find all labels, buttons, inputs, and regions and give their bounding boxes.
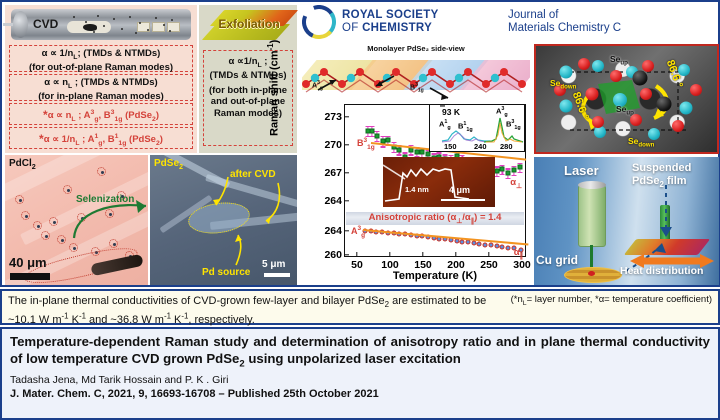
rsc-logo-line2: OF CHEMISTRY: [342, 22, 432, 34]
relation-box-in-plane: α ∝ nL ; (TMDs & NTMDs) (for in-plane Ra…: [9, 74, 193, 101]
inset-x-tick-280: 280: [500, 142, 513, 151]
pdse2-label: PdSe2: [154, 158, 183, 171]
error-bar-cap: [397, 154, 402, 155]
y-tick-260: 260: [324, 249, 342, 261]
rsc-logo-line1: ROYAL SOCIETY: [342, 9, 439, 21]
vapor-dots: [69, 13, 179, 35]
inset-x-tick-240: 240: [474, 142, 487, 151]
data-point: [506, 245, 511, 250]
inset-peak-a3g: A3g: [496, 106, 508, 118]
laser-heating-schematic: Laser SuspendedPdSe2 film Cu grid Heat d…: [534, 157, 719, 285]
data-point: [385, 138, 390, 143]
crystal-mode-label-b31g: B31g: [410, 82, 424, 94]
error-bar-cap: [517, 172, 522, 173]
laser-spot: [588, 271, 595, 276]
stm-label-se-up-top: Seup: [610, 54, 628, 67]
data-point: [420, 150, 425, 155]
pdcl2-scale-bar: [10, 273, 50, 280]
cvd-panel: CVD α ∝ 1/nL; (TMDs & NTMDs) (for out-of…: [5, 5, 197, 153]
inset-x-tick-150: 150: [444, 142, 457, 151]
optical-image-pdse2: PdSe2 after CVD Pd source 5 μm: [150, 155, 297, 285]
data-point: [494, 244, 499, 249]
error-bar-cap: [408, 154, 413, 155]
inset-peak-a1g: A1g: [439, 119, 451, 131]
stm-label-se-up-mid: Seup: [616, 104, 634, 117]
alpha-parallel-label: α∥: [514, 247, 523, 260]
crystal-lattice: [302, 54, 530, 102]
stm-label-se-down-left: Sedown: [550, 78, 576, 91]
error-bar-cap: [500, 165, 505, 166]
y-tick-264-upper: 264: [324, 195, 342, 207]
stm-image-panel: Seup Sedown Seup Sedown 86.6 ° 86.6 °: [534, 44, 719, 154]
cvd-furnace-tube-icon: CVD: [11, 9, 191, 40]
raman-spectrum-inset: Intensity 93 K A1g B11g A3g B31g 150 240…: [429, 104, 525, 152]
error-bar-cap: [380, 146, 385, 147]
chart-y-axis-label: Raman shift (cm-1): [266, 40, 281, 136]
crystal-structure-title: Monolayer PdSe₂ side-view: [302, 44, 530, 53]
error-bar-cap: [506, 168, 511, 169]
cvd-label: CVD: [33, 17, 58, 31]
alpha-perp-label: α⊥: [510, 177, 522, 190]
summary-text: The in-plane thermal conductivities of C…: [8, 295, 486, 326]
pd-source-label: Pd source: [202, 267, 250, 278]
series-label-b31g: B31g: [357, 137, 375, 151]
pdse2-scale-label: 5 μm: [262, 259, 285, 270]
error-bar-cap: [511, 175, 516, 176]
error-bar-cap: [437, 152, 442, 153]
y-tick-264-lower: 264: [324, 225, 342, 237]
fit-line-lower: [363, 229, 529, 245]
relation-box-pdse2-a3g: *α ∝ nL ; A3g, B31g (PdSe2): [9, 103, 193, 125]
error-bar-cap: [391, 142, 396, 143]
rsc-logo-icon: [302, 5, 336, 39]
raman-shift-vs-temperature-chart: Raman shift (cm-1) 273 270 267 264 264 2…: [302, 102, 530, 285]
heat-distribution-label: Heat distribution: [620, 265, 703, 277]
data-point: [466, 240, 471, 245]
error-bar-cap: [370, 126, 375, 127]
laser-top: [578, 181, 606, 189]
data-point: [397, 147, 402, 152]
error-bar-cap: [500, 174, 505, 175]
data-point: [471, 241, 476, 246]
error-bar-cap: [385, 136, 390, 137]
data-point: [511, 168, 516, 173]
cu-grid-label: Cu grid: [536, 253, 578, 267]
laser-label: Laser: [564, 163, 599, 178]
stm-label-se-down-bottom: Sedown: [628, 136, 654, 149]
chart-plot-area: 273 270 267 264 264 260 50 100 150: [344, 104, 526, 257]
paper-authors: Tadasha Jena, Md Tarik Hossain and P. K …: [10, 374, 710, 386]
series-label-a3g: A3g: [351, 225, 365, 239]
paper-citation: J. Mater. Chem. C, 2021, 9, 16693-16708 …: [10, 388, 710, 400]
paper-citation-box: Temperature-dependent Raman study and de…: [0, 327, 720, 420]
inset-peak-b31g: B31g: [506, 119, 521, 131]
exfoliation-label: Exfoliation: [209, 17, 289, 31]
data-point: [517, 165, 522, 170]
crystal-structure-schematic: Monolayer PdSe₂ side-view: [302, 44, 530, 104]
data-point: [506, 171, 511, 176]
data-point: [375, 133, 380, 138]
inset-peak-b11g: B11g: [458, 121, 473, 133]
laser-body: [578, 185, 606, 247]
pdcl2-label: PdCl2: [9, 158, 36, 171]
selenization-label: Selenization: [76, 194, 134, 205]
after-cvd-label: after CVD: [230, 169, 276, 180]
tube-cap: [13, 11, 28, 38]
journal-header: ROYAL SOCIETY OF CHEMISTRY Journal of Ma…: [300, 3, 717, 41]
data-point: [500, 167, 505, 172]
pdcl2-scale-label: 40 μm: [9, 255, 47, 270]
data-point: [500, 244, 505, 249]
afm-inset-image: 1.4 nm 4 μm: [383, 157, 495, 207]
data-point: [488, 243, 493, 248]
exfoliation-panel: Exfoliation α ∝1/nL ; (TMDs & NTMDs) (fo…: [199, 5, 297, 153]
paper-title: Temperature-dependent Raman study and de…: [10, 334, 710, 371]
y-tick-270: 270: [324, 139, 342, 151]
afm-scale-bar: [441, 199, 485, 201]
data-point: [477, 241, 482, 246]
afm-scale-label: 4 μm: [449, 185, 470, 195]
journal-name-line2: Materials Chemistry C: [508, 22, 621, 34]
afm-height-label: 1.4 nm: [405, 185, 429, 194]
y-tick-267: 267: [324, 167, 342, 179]
pdse2-scale-bar: [264, 273, 290, 277]
error-bar-cap: [391, 152, 396, 153]
error-bar-cap: [403, 152, 408, 153]
error-bar-cap: [375, 131, 380, 132]
anisotropy-ratio-annotation: Anisotropic ratio (α⊥/α∥) = 1.4: [346, 212, 524, 225]
journal-name-line1: Journal of: [508, 9, 559, 21]
crystal-mode-label-a3g: A3g: [312, 80, 323, 92]
error-bar-cap: [431, 153, 436, 154]
chart-x-axis-label: Temperature (K): [345, 270, 525, 282]
data-point: [414, 149, 419, 154]
error-bar-cap: [511, 166, 516, 167]
y-tick-273: 273: [324, 111, 342, 123]
error-bar-cap: [443, 154, 448, 155]
relation-box-pdse2-a1g: *α ∝ 1/nL ; A1g, B11g (PdSe2): [9, 127, 193, 149]
data-point: [460, 239, 465, 244]
relation-box-out-of-plane: α ∝ 1/nL; (TMDs & NTMDs) (for out-of-pla…: [9, 45, 193, 72]
graphical-abstract: CVD α ∝ 1/nL; (TMDs & NTMDs) (for out-of…: [0, 0, 720, 420]
figure-panel-container: CVD α ∝ 1/nL; (TMDs & NTMDs) (for out-of…: [0, 0, 720, 287]
error-bar-cap: [517, 163, 522, 164]
summary-note: (*nL= layer number, *α= temperature coef…: [511, 294, 712, 308]
data-point: [483, 242, 488, 247]
summary-text-box: (*nL= layer number, *α= temperature coef…: [0, 289, 720, 325]
